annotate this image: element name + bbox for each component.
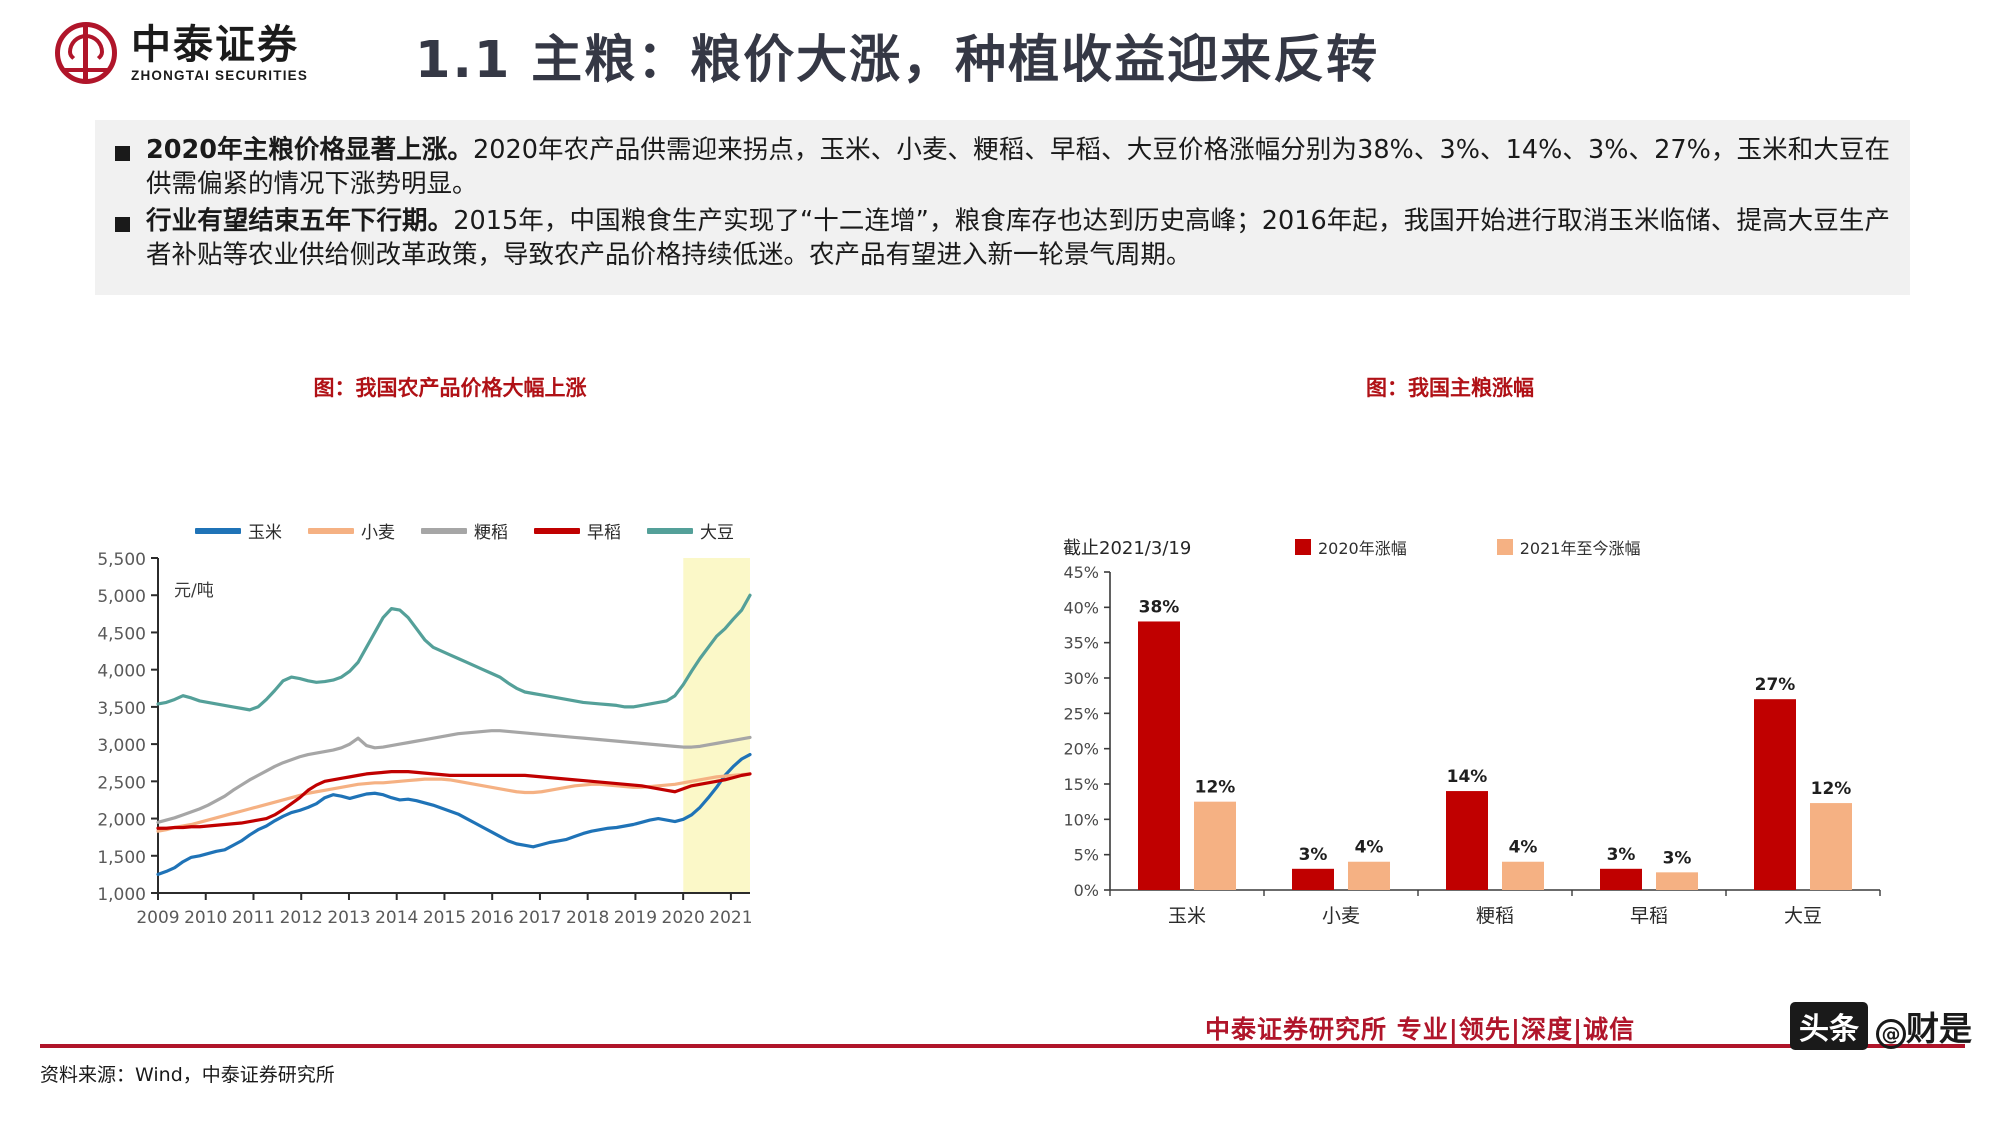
svg-text:2011: 2011: [232, 908, 275, 928]
svg-text:5%: 5%: [1074, 846, 1099, 865]
svg-text:3,500: 3,500: [97, 699, 146, 719]
bullet-item: 行业有望结束五年下行期。2015年，中国粮食生产实现了“十二连增”，粮食库存也达…: [115, 205, 1890, 272]
svg-text:2,500: 2,500: [97, 773, 146, 793]
svg-text:30%: 30%: [1063, 669, 1099, 688]
bullet-square-icon: [115, 217, 130, 232]
svg-text:3%: 3%: [1663, 848, 1692, 868]
watermark: 头条 @财是: [1790, 1002, 1972, 1050]
bullet-item: 2020年主粮价格显著上涨。2020年农产品供需迎来拐点，玉米、小麦、粳稻、早稻…: [115, 134, 1890, 201]
svg-text:2,000: 2,000: [97, 811, 146, 831]
legend-label: 粳稻: [474, 518, 508, 543]
svg-text:10%: 10%: [1063, 810, 1099, 829]
svg-text:40%: 40%: [1063, 598, 1099, 617]
svg-text:3%: 3%: [1607, 845, 1636, 865]
staple-gains-chart: 0%5%10%15%20%25%30%35%40%45%38%12%玉米3%4%…: [1040, 560, 1900, 965]
svg-text:5,500: 5,500: [97, 550, 146, 570]
svg-text:3%: 3%: [1299, 845, 1328, 865]
legend-swatch-icon: [1295, 539, 1311, 555]
svg-text:2020: 2020: [662, 908, 705, 928]
svg-text:2019: 2019: [614, 908, 657, 928]
svg-text:4%: 4%: [1355, 838, 1384, 858]
svg-text:2013: 2013: [327, 908, 370, 928]
svg-text:2016: 2016: [471, 908, 514, 928]
svg-text:45%: 45%: [1063, 563, 1099, 582]
svg-text:14%: 14%: [1447, 767, 1488, 787]
watermark-text: @财是: [1876, 1002, 1972, 1050]
bullet-text: 行业有望结束五年下行期。2015年，中国粮食生产实现了“十二连增”，粮食库存也达…: [146, 205, 1890, 272]
zhongtai-logo-icon: [55, 22, 117, 84]
summary-box: 2020年主粮价格显著上涨。2020年农产品供需迎来拐点，玉米、小麦、粳稻、早稻…: [95, 120, 1910, 295]
left-chart-legend: 玉米小麦粳稻早稻大豆: [195, 518, 734, 543]
brand-name-en: ZHONGTAI SECURITIES: [131, 68, 308, 83]
legend-swatch-icon: [195, 528, 241, 534]
legend-item-早稻: 早稻: [534, 518, 621, 543]
svg-text:27%: 27%: [1755, 675, 1796, 695]
svg-text:38%: 38%: [1139, 597, 1180, 617]
svg-text:1,000: 1,000: [97, 885, 146, 905]
legend-swatch-icon: [1497, 539, 1513, 555]
right-chart-legend: 2020年涨幅2021年至今涨幅: [1295, 535, 1640, 559]
svg-text:4,500: 4,500: [97, 624, 146, 644]
svg-text:早稻: 早稻: [1630, 905, 1668, 927]
legend-item-小麦: 小麦: [308, 518, 395, 543]
right-chart-cutoff-label: 截止2021/3/19: [1063, 534, 1191, 560]
svg-text:元/吨: 元/吨: [174, 581, 214, 601]
page-title: 1.1 主粮：粮价大涨，种植收益迎来反转: [415, 18, 1379, 92]
legend-label: 小麦: [361, 518, 395, 543]
legend-label: 大豆: [700, 518, 734, 543]
svg-text:2012: 2012: [280, 908, 323, 928]
legend-swatch-icon: [534, 528, 580, 534]
svg-text:3,000: 3,000: [97, 736, 146, 756]
svg-text:0%: 0%: [1074, 881, 1099, 900]
footer-slogan: 中泰证券研究所 专业|领先|深度|诚信: [1205, 1010, 1635, 1046]
svg-text:小麦: 小麦: [1322, 905, 1360, 927]
legend-item-2020年涨幅: 2020年涨幅: [1295, 535, 1407, 559]
legend-label: 2021年至今涨幅: [1520, 535, 1641, 559]
brand-name-cn: 中泰证券: [131, 24, 308, 66]
svg-text:35%: 35%: [1063, 634, 1099, 653]
svg-text:2009: 2009: [136, 908, 179, 928]
svg-text:25%: 25%: [1063, 704, 1099, 723]
bullet-lead: 2020年主粮价格显著上涨。: [146, 135, 473, 165]
svg-text:12%: 12%: [1195, 778, 1236, 798]
brand-logo: 中泰证券 ZHONGTAI SECURITIES: [55, 22, 308, 84]
watermark-badge: 头条: [1790, 1002, 1868, 1050]
svg-text:2021: 2021: [709, 908, 752, 928]
svg-text:15%: 15%: [1063, 775, 1099, 794]
legend-item-大豆: 大豆: [647, 518, 734, 543]
slide-header: 中泰证券 ZHONGTAI SECURITIES 1.1 主粮：粮价大涨，种植收…: [0, 0, 2000, 105]
legend-label: 早稻: [587, 518, 621, 543]
legend-label: 2020年涨幅: [1318, 535, 1407, 559]
svg-text:大豆: 大豆: [1784, 905, 1822, 927]
svg-text:玉米: 玉米: [1168, 905, 1206, 927]
left-chart-title: 图：我国农产品价格大幅上涨: [180, 372, 720, 402]
svg-text:20%: 20%: [1063, 740, 1099, 759]
legend-item-玉米: 玉米: [195, 518, 282, 543]
svg-text:5,000: 5,000: [97, 587, 146, 607]
svg-text:12%: 12%: [1811, 779, 1852, 799]
legend-swatch-icon: [421, 528, 467, 534]
bullet-text: 2020年主粮价格显著上涨。2020年农产品供需迎来拐点，玉米、小麦、粳稻、早稻…: [146, 134, 1890, 201]
svg-text:4,000: 4,000: [97, 662, 146, 682]
svg-text:粳稻: 粳稻: [1476, 905, 1514, 927]
svg-text:2018: 2018: [566, 908, 609, 928]
footer-divider: [40, 1044, 1965, 1048]
svg-text:2010: 2010: [184, 908, 227, 928]
svg-text:2014: 2014: [375, 908, 418, 928]
legend-swatch-icon: [647, 528, 693, 534]
right-chart-title: 图：我国主粮涨幅: [1000, 372, 1900, 402]
svg-text:2017: 2017: [518, 908, 561, 928]
legend-item-2021年至今涨幅: 2021年至今涨幅: [1497, 535, 1641, 559]
legend-label: 玉米: [248, 518, 282, 543]
svg-text:2015: 2015: [423, 908, 466, 928]
bullet-square-icon: [115, 146, 130, 161]
legend-swatch-icon: [308, 528, 354, 534]
bullet-lead: 行业有望结束五年下行期。: [146, 206, 453, 236]
svg-text:4%: 4%: [1509, 838, 1538, 858]
at-icon: @: [1876, 1019, 1906, 1049]
agri-prices-chart: 1,0001,5002,0002,5003,0003,5004,0004,500…: [70, 548, 770, 973]
legend-item-粳稻: 粳稻: [421, 518, 508, 543]
svg-text:1,500: 1,500: [97, 848, 146, 868]
source-note: 资料来源：Wind，中泰证券研究所: [40, 1060, 335, 1087]
